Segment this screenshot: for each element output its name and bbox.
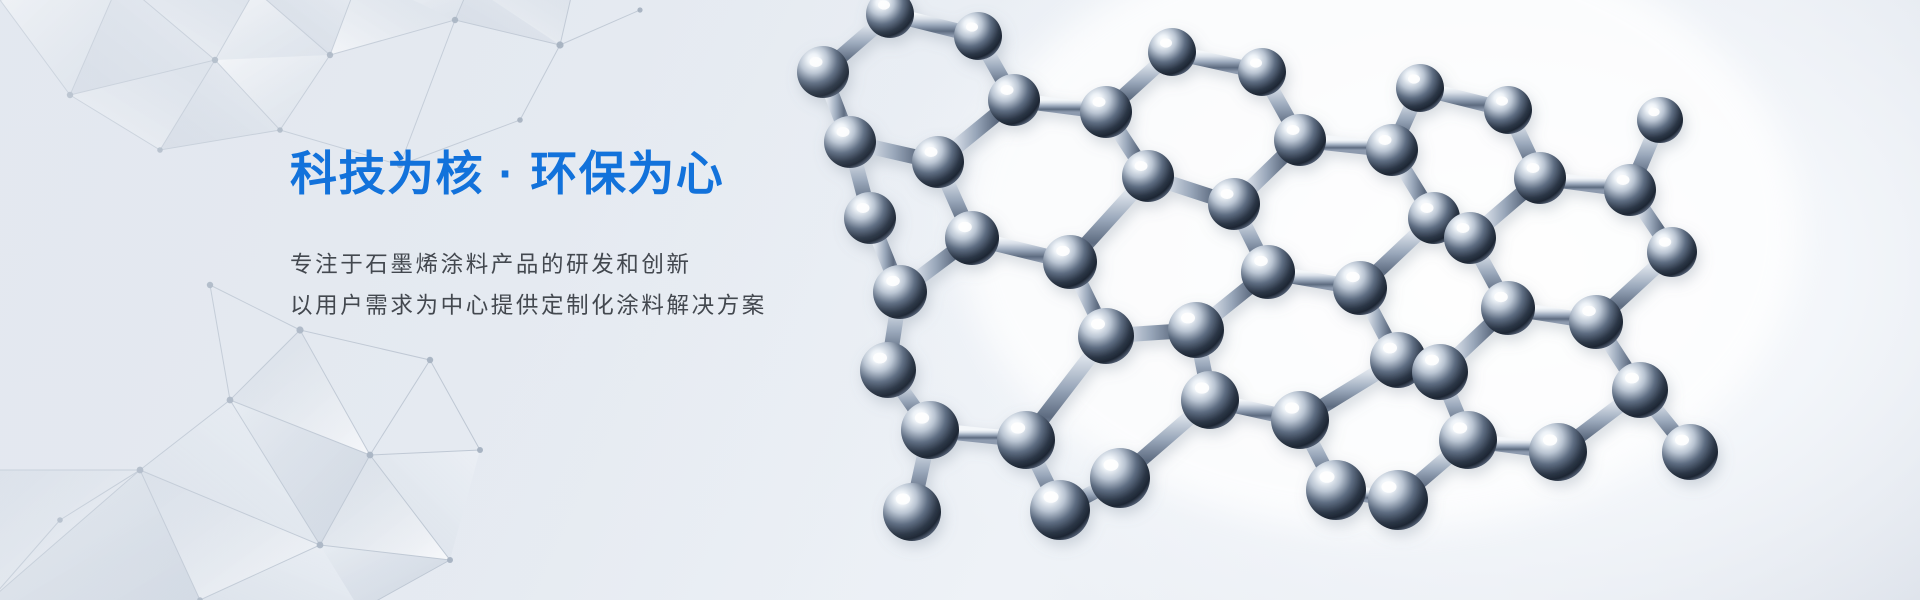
banner-text-block: 科技为核 · 环保为心 专注于石墨烯涂料产品的研发和创新 以用户需求为中心提供定…	[290, 148, 930, 326]
subtitle-line-2: 以用户需求为中心提供定制化涂料解决方案	[290, 285, 930, 326]
subtitle-line-1: 专注于石墨烯涂料产品的研发和创新	[290, 244, 930, 285]
banner-subtitle: 专注于石墨烯涂料产品的研发和创新 以用户需求为中心提供定制化涂料解决方案	[290, 244, 930, 326]
hero-banner: 科技为核 · 环保为心 专注于石墨烯涂料产品的研发和创新 以用户需求为中心提供定…	[0, 0, 1920, 600]
left-light-veil	[0, 0, 1920, 600]
banner-headline: 科技为核 · 环保为心	[290, 148, 930, 200]
